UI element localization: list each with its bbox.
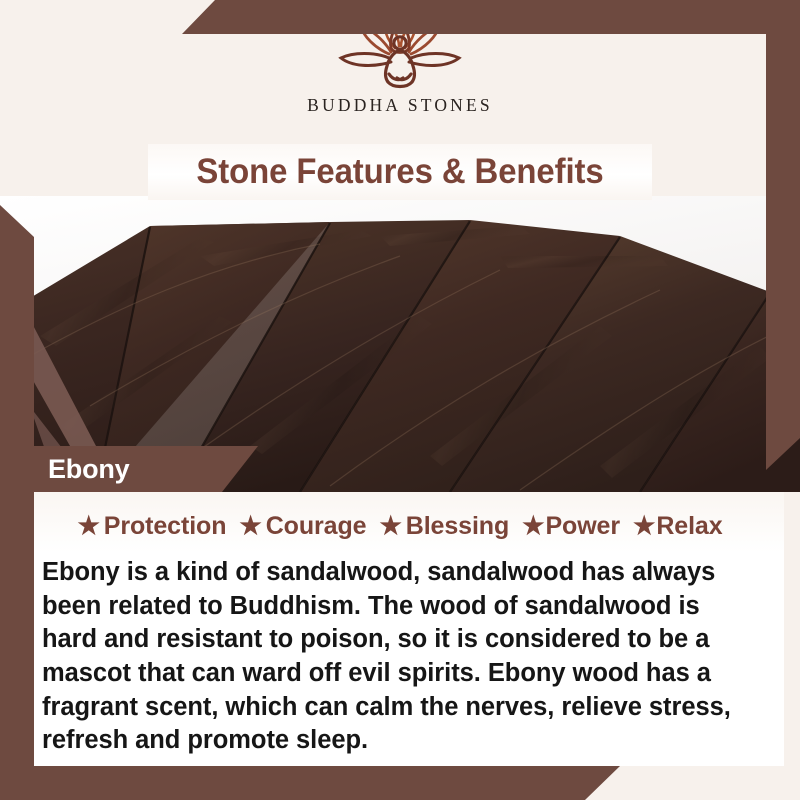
star-icon: ★ bbox=[77, 514, 99, 539]
benefit-label: Relax bbox=[656, 512, 722, 541]
benefit-label: Protection bbox=[104, 512, 227, 541]
benefit-item-relax: ★ Relax bbox=[633, 512, 723, 541]
page-title: Stone Features & Benefits bbox=[24, 144, 776, 200]
benefit-label: Blessing bbox=[406, 512, 509, 541]
benefit-item-protection: ★ Protection bbox=[77, 512, 226, 541]
brand-name: BUDDHA STONES bbox=[307, 95, 493, 116]
stone-description: Ebony is a kind of sandalwood, sandalwoo… bbox=[38, 556, 762, 758]
stone-name: Ebony bbox=[0, 454, 130, 485]
frame-bottom-band bbox=[0, 766, 800, 800]
benefit-label: Courage bbox=[266, 512, 367, 541]
content-panel: ★ Protection ★ Courage ★ Blessing ★ Powe… bbox=[16, 492, 784, 766]
benefit-item-power: ★ Power bbox=[522, 512, 620, 541]
benefit-label: Power bbox=[545, 512, 620, 541]
star-icon: ★ bbox=[522, 514, 544, 539]
star-icon: ★ bbox=[633, 514, 655, 539]
benefit-item-blessing: ★ Blessing bbox=[379, 512, 509, 541]
benefit-item-courage: ★ Courage bbox=[239, 512, 366, 541]
benefits-list: ★ Protection ★ Courage ★ Blessing ★ Powe… bbox=[38, 492, 762, 548]
infographic-card: BUDDHA STONES Stone Features & Benefits … bbox=[0, 0, 800, 800]
star-icon: ★ bbox=[239, 514, 261, 539]
title-banner-background bbox=[148, 144, 652, 200]
star-icon: ★ bbox=[379, 514, 401, 539]
